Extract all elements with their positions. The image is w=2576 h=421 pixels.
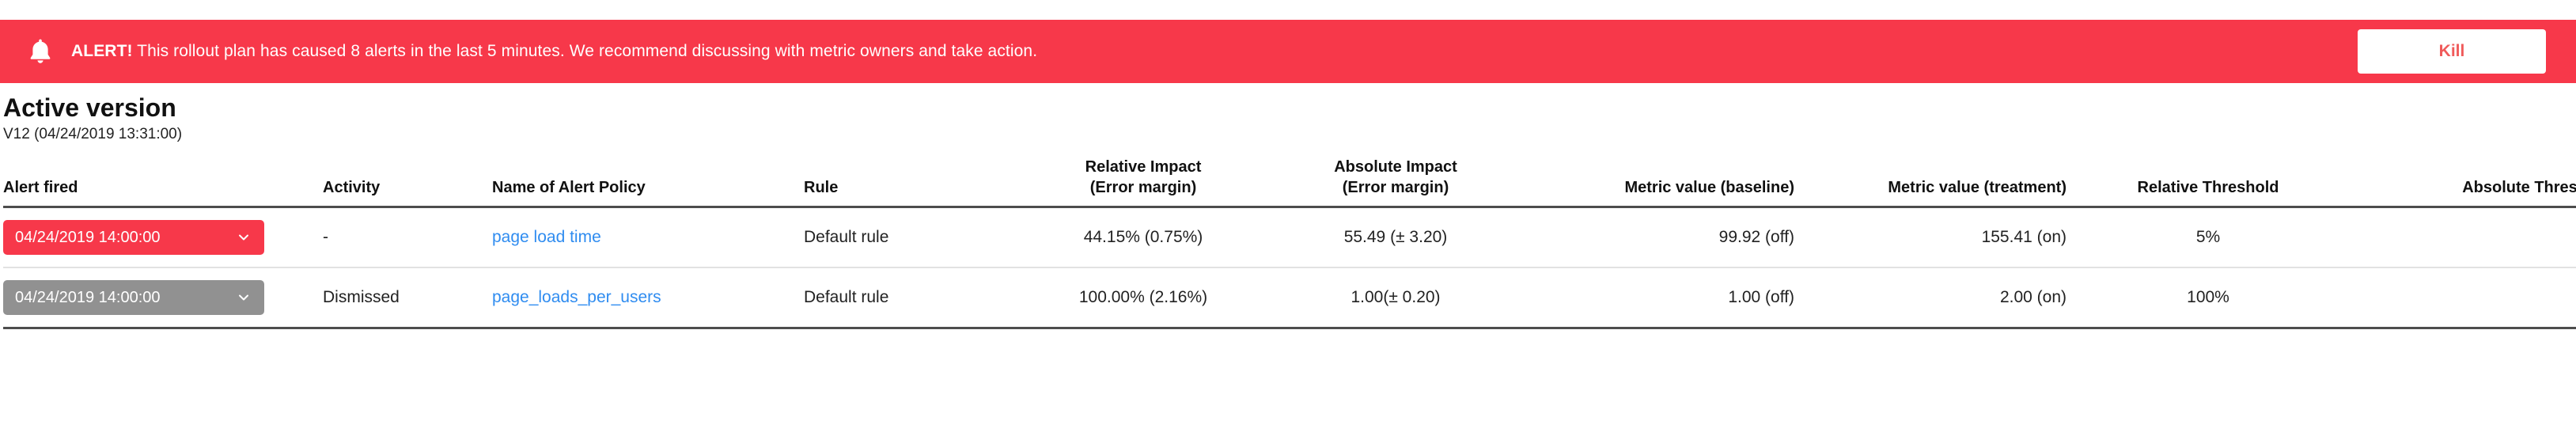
- absolute-impact-line2: (Error margin): [1277, 178, 1514, 199]
- column-header-absolute-threshold: Absolute Threshold: [2350, 157, 2576, 207]
- cell-metric-treatment: 155.41 (on): [1805, 207, 2078, 268]
- cell-relative-threshold: 100%: [2078, 267, 2350, 328]
- alert-message: ALERT! This rollout plan has caused 8 al…: [71, 42, 1037, 61]
- cell-activity: -: [323, 207, 492, 268]
- alert-fired-time-dropdown[interactable]: 04/24/2019 14:00:00: [3, 220, 264, 255]
- alert-fired-time-dropdown[interactable]: 04/24/2019 14:00:00: [3, 280, 264, 315]
- cell-metric-baseline: 99.92 (off): [1525, 207, 1805, 268]
- bell-icon: [27, 37, 54, 66]
- cell-rule: Default rule: [804, 207, 1021, 268]
- column-header-metric-treatment: Metric value (treatment): [1805, 157, 2078, 207]
- kill-button[interactable]: Kill: [2358, 29, 2546, 74]
- chevron-down-icon: [237, 231, 250, 244]
- column-header-metric-baseline: Metric value (baseline): [1525, 157, 1805, 207]
- cell-rule: Default rule: [804, 267, 1021, 328]
- page-title: Active version: [3, 93, 2576, 123]
- cell-absolute-impact: 55.49 (± 3.20): [1277, 207, 1525, 268]
- cell-relative-impact: 44.15% (0.75%): [1021, 207, 1277, 268]
- table-header-row: Alert fired Activity Name of Alert Polic…: [3, 157, 2576, 207]
- column-header-alert-fired: Alert fired: [3, 157, 323, 207]
- absolute-impact-line1: Absolute Impact: [1277, 157, 1514, 178]
- column-header-absolute-impact: Absolute Impact (Error margin): [1277, 157, 1525, 207]
- alerts-table: Alert fired Activity Name of Alert Polic…: [3, 157, 2576, 329]
- alerts-table-body: 04/24/2019 14:00:00 - page load time Def…: [3, 207, 2576, 328]
- alert-policy-link[interactable]: page_loads_per_users: [492, 288, 661, 306]
- alert-policy-link[interactable]: page load time: [492, 228, 601, 246]
- alert-fired-time-label: 04/24/2019 14:00:00: [15, 229, 161, 247]
- main-content: Active version V12 (04/24/2019 13:31:00)…: [0, 83, 2576, 329]
- cell-metric-treatment: 2.00 (on): [1805, 267, 2078, 328]
- alert-banner: ALERT! This rollout plan has caused 8 al…: [0, 20, 2576, 83]
- cell-absolute-impact: 1.00(± 0.20): [1277, 267, 1525, 328]
- column-header-relative-threshold: Relative Threshold: [2078, 157, 2350, 207]
- column-header-rule: Rule: [804, 157, 1021, 207]
- cell-absolute-threshold: 1.0: [2350, 267, 2576, 328]
- column-header-activity: Activity: [323, 157, 492, 207]
- cell-policy: page load time: [492, 207, 804, 268]
- cell-metric-baseline: 1.00 (off): [1525, 267, 1805, 328]
- cell-activity: Dismissed: [323, 267, 492, 328]
- cell-alert-fired: 04/24/2019 14:00:00: [3, 267, 323, 328]
- cell-policy: page_loads_per_users: [492, 267, 804, 328]
- cell-alert-fired: 04/24/2019 14:00:00: [3, 207, 323, 268]
- table-row: 04/24/2019 14:00:00 Dismissed page_loads…: [3, 267, 2576, 328]
- alert-fired-time-label: 04/24/2019 14:00:00: [15, 289, 161, 307]
- table-row: 04/24/2019 14:00:00 - page load time Def…: [3, 207, 2576, 268]
- alert-lead-label: ALERT!: [71, 42, 133, 60]
- relative-impact-line2: (Error margin): [1021, 178, 1266, 199]
- relative-impact-line1: Relative Impact: [1021, 157, 1266, 178]
- active-version-label: V12 (04/24/2019 13:31:00): [3, 126, 2576, 143]
- cell-relative-impact: 100.00% (2.16%): [1021, 267, 1277, 328]
- cell-absolute-threshold: 2.2: [2350, 207, 2576, 268]
- cell-relative-threshold: 5%: [2078, 207, 2350, 268]
- alerts-table-header: Alert fired Activity Name of Alert Polic…: [3, 157, 2576, 207]
- alert-message-text: This rollout plan has caused 8 alerts in…: [133, 42, 1038, 60]
- chevron-down-icon: [237, 291, 250, 304]
- column-header-policy: Name of Alert Policy: [492, 157, 804, 207]
- column-header-relative-impact: Relative Impact (Error margin): [1021, 157, 1277, 207]
